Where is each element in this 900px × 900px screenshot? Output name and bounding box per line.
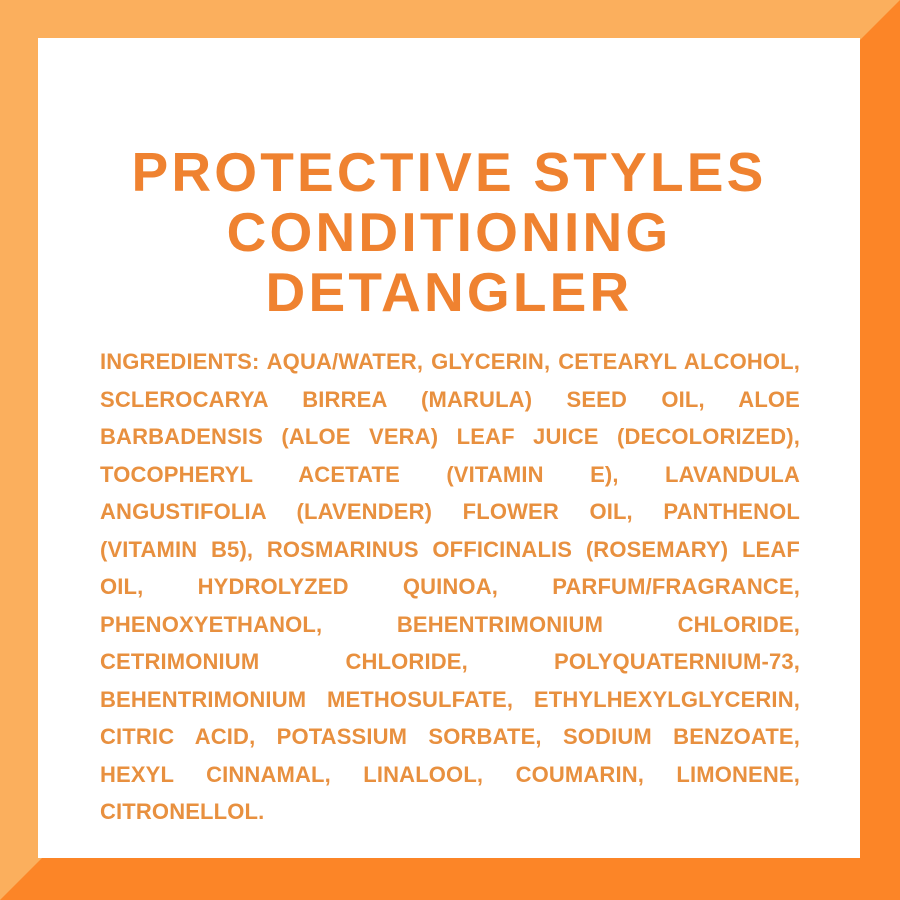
label-frame-dark-bottom-edge bbox=[0, 858, 900, 900]
product-title: PROTECTIVE STYLES CONDITIONING DETANGLER bbox=[38, 142, 860, 322]
label-frame-dark-right-edge bbox=[858, 0, 900, 900]
ingredients-text: INGREDIENTS: AQUA/WATER, GLYCERIN, CETEA… bbox=[100, 343, 800, 831]
label-white-panel: PROTECTIVE STYLES CONDITIONING DETANGLER… bbox=[38, 38, 860, 858]
product-label-image: PROTECTIVE STYLES CONDITIONING DETANGLER… bbox=[0, 0, 900, 900]
